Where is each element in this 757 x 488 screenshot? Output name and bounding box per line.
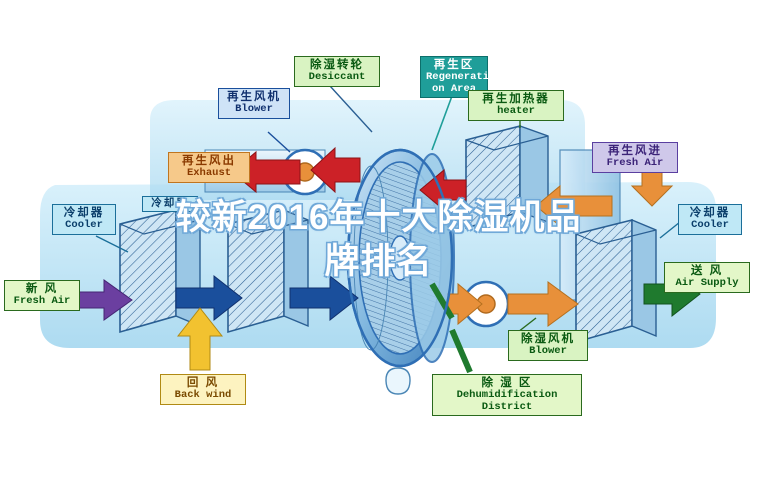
label-air-supply-en: Air Supply: [670, 278, 744, 290]
label-cooler-right-en: Cooler: [684, 220, 736, 232]
label-regeneration-heater: 再生加热器 heater: [468, 90, 564, 121]
label-air-supply: 送 风 Air Supply: [664, 262, 750, 293]
label-cooler-left-en: Cooler: [58, 220, 110, 232]
label-cooler-left-cn: 冷却器: [58, 207, 110, 220]
label-back-wind: 回 风 Back wind: [160, 374, 246, 405]
label-dehumidify-blower: 除湿风机 Blower: [508, 330, 588, 361]
label-exhaust-en: Exhaust: [174, 168, 244, 180]
label-regeneration-blower-cn: 再生风机: [224, 91, 284, 104]
label-regeneration-heater-en: heater: [474, 106, 558, 118]
label-dehumidification-district-cn: 除 湿 区: [438, 377, 576, 390]
label-regeneration-fresh-air-en: Fresh Air: [598, 158, 672, 170]
label-dehumidification-district-en: Dehumidification District: [438, 390, 576, 414]
label-regeneration-area-cn: 再生区: [426, 59, 482, 72]
label-regeneration-blower-en: Blower: [224, 104, 284, 116]
label-regeneration-fresh-air: 再生风进 Fresh Air: [592, 142, 678, 173]
label-dehumidify-blower-cn: 除湿风机: [514, 333, 582, 346]
label-regeneration-heater-cn: 再生加热器: [474, 93, 558, 106]
label-desiccant-wheel: 除湿转轮 Desiccant: [294, 56, 380, 87]
label-air-supply-cn: 送 风: [670, 265, 744, 278]
label-exhaust: 再生风出 Exhaust: [168, 152, 250, 183]
label-cooler-mid: 冷却器: [142, 196, 198, 212]
label-back-wind-en: Back wind: [166, 390, 240, 402]
label-desiccant-wheel-cn: 除湿转轮: [300, 59, 374, 72]
diagram-canvas: 除湿转轮 Desiccant 再生风机 Blower 再生区 Regenerat…: [0, 0, 757, 488]
label-cooler-mid-cn: 冷却器: [146, 198, 194, 210]
label-dehumidification-district: 除 湿 区 Dehumidification District: [432, 374, 582, 416]
label-fresh-air-en: Fresh Air: [10, 296, 74, 308]
label-exhaust-cn: 再生风出: [174, 155, 244, 168]
label-cooler-right-cn: 冷却器: [684, 207, 736, 220]
label-cooler-left: 冷却器 Cooler: [52, 204, 116, 235]
label-dehumidify-blower-en: Blower: [514, 346, 582, 358]
label-desiccant-wheel-en: Desiccant: [300, 72, 374, 84]
label-regeneration-fresh-air-cn: 再生风进: [598, 145, 672, 158]
label-back-wind-cn: 回 风: [166, 377, 240, 390]
label-cooler-right: 冷却器 Cooler: [678, 204, 742, 235]
label-regeneration-blower: 再生风机 Blower: [218, 88, 290, 119]
label-fresh-air: 新 风 Fresh Air: [4, 280, 80, 311]
label-fresh-air-cn: 新 风: [10, 283, 74, 296]
